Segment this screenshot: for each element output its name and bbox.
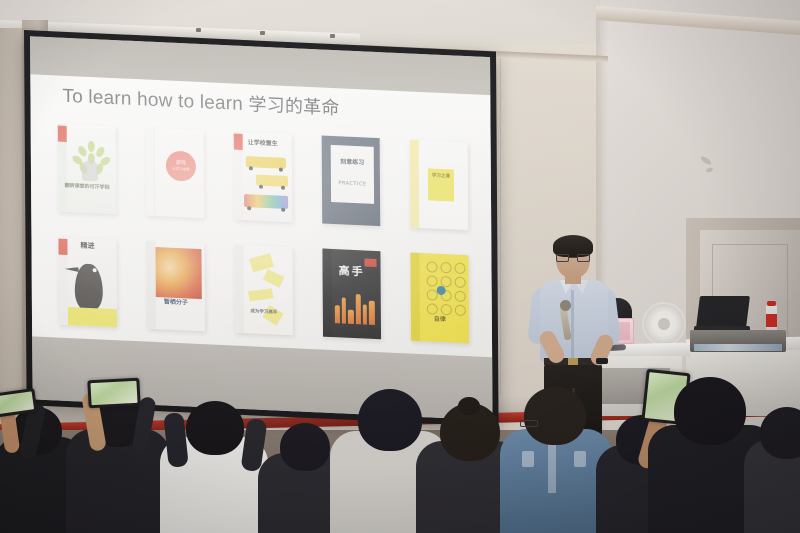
wall-panel-seam <box>500 58 501 418</box>
book-cover-school-reborn: 让学校重生 <box>234 131 293 222</box>
book-cell: 高手 <box>309 236 394 351</box>
book-cover-khan-academy: 翻转课堂的可汗学院 <box>58 123 117 214</box>
slide-title-chinese: 学习的革命 <box>248 94 339 119</box>
book-cover-learning-way: 学习之道 <box>410 139 469 230</box>
laptop-screen[interactable] <box>696 296 750 328</box>
book-cell: 成为学习高手 <box>221 232 306 347</box>
book-cell: 刻意练习 PRACTICE <box>309 123 394 238</box>
book-cover-game: 游戏 让学习成瘾 <box>146 127 205 218</box>
book-subtitle-text: PRACTICE <box>331 180 374 187</box>
coke-label <box>766 314 777 327</box>
book-cover-deliberate-practice: 刻意练习 PRACTICE <box>322 135 381 226</box>
shirt-placket <box>571 290 574 360</box>
projected-slide: To learn how to learn 学习的革命 <box>30 74 492 357</box>
center-dot <box>437 285 446 294</box>
book-cover-molecule: 暂栖分子 <box>146 240 205 331</box>
hair-bun <box>458 397 480 415</box>
phone-screen <box>90 381 137 405</box>
yellow-band <box>68 307 117 327</box>
microphone-capsule <box>560 300 571 311</box>
book-cover-gaoshou: 高手 <box>322 248 381 339</box>
book-cell: 学习之道 <box>397 127 482 242</box>
jacket-pocket <box>522 451 534 467</box>
book-title-text: 刻意练习 <box>331 158 374 166</box>
smartphone[interactable] <box>87 378 140 409</box>
fan-hub <box>658 318 670 330</box>
book-cell: 翻转课堂的可汗学院 <box>45 111 130 226</box>
audience-member <box>744 397 800 533</box>
bus-icon <box>256 174 288 186</box>
rail-bolt <box>330 34 335 38</box>
audience-foreground <box>0 368 800 533</box>
book-subtitle-text: 让学习成瘾 <box>172 167 190 173</box>
bus-icon <box>244 194 288 209</box>
book-cover-jingjin: 精进 <box>58 236 117 327</box>
slide-title-english: To learn how to learn <box>62 86 243 115</box>
book-cell: 游戏 让学习成瘾 <box>133 115 218 230</box>
rail-bolt <box>196 28 201 32</box>
bus-icon <box>246 156 286 169</box>
book-cell: 让学校重生 <box>221 119 306 234</box>
wristwatch <box>596 358 608 364</box>
skyline-illustration <box>333 289 377 325</box>
phone-screen <box>0 391 34 414</box>
book-cover-grid: 翻转课堂的可汗学院 游戏 让学习成瘾 <box>45 111 483 355</box>
book-cover-zilv: 自律 <box>410 252 469 343</box>
bird-eye <box>93 268 97 272</box>
red-circle-badge: 游戏 让学习成瘾 <box>166 150 196 181</box>
book-cover-geometric: 成为学习高手 <box>234 244 293 335</box>
screen-surface: To learn how to learn 学习的革命 <box>30 36 493 420</box>
rail-bolt <box>260 31 265 35</box>
cover-artwork <box>155 246 201 298</box>
book-cell: 自律 <box>397 240 482 355</box>
lecture-hall-photo: To learn how to learn 学习的革命 <box>0 0 800 533</box>
bird-illustration <box>75 263 103 310</box>
book-cell: 精进 <box>45 224 130 339</box>
console-panel[interactable] <box>694 344 782 351</box>
glasses-icon <box>520 420 538 427</box>
book-title-text: 游戏 <box>176 159 186 166</box>
coke-cap <box>767 301 776 306</box>
audience-member <box>60 381 170 533</box>
audience-member <box>160 393 268 533</box>
glasses-icon <box>556 254 590 262</box>
jacket-pocket <box>574 451 586 467</box>
book-title-text: 学习之道 <box>428 174 454 180</box>
book-cell: 暂栖分子 <box>133 228 218 343</box>
belt-buckle <box>568 358 578 365</box>
